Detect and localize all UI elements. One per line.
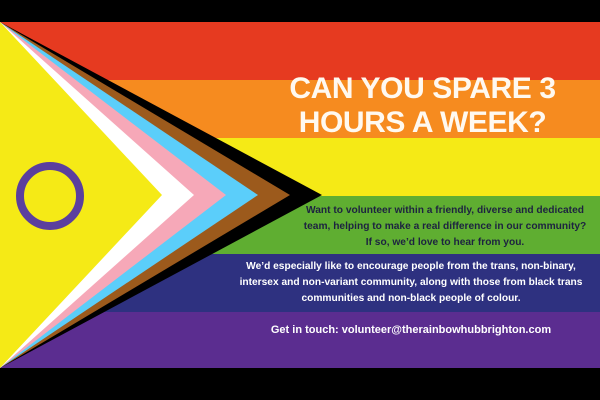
- green-band-paragraph: Want to volunteer within a friendly, div…: [300, 203, 590, 250]
- contact-line: Get in touch: volunteer@therainbowhubbri…: [232, 322, 590, 339]
- contact-email[interactable]: volunteer@therainbowhubbrighton.com: [342, 324, 551, 336]
- letterbox-bar-bottom: [0, 368, 600, 400]
- pride-volunteer-poster: CAN YOU SPARE 3 HOURS A WEEK? Want to vo…: [0, 0, 600, 400]
- headline-line-2: HOURS A WEEK?: [255, 106, 590, 140]
- blue-band-paragraph: We’d especially like to encourage people…: [232, 259, 590, 306]
- headline-line-1: CAN YOU SPARE 3: [289, 72, 555, 105]
- intersex-ring-icon: [16, 162, 84, 230]
- letterbox-bar-top: [0, 0, 600, 22]
- contact-label: Get in touch:: [271, 324, 339, 336]
- headline: CAN YOU SPARE 3 HOURS A WEEK?: [255, 72, 590, 139]
